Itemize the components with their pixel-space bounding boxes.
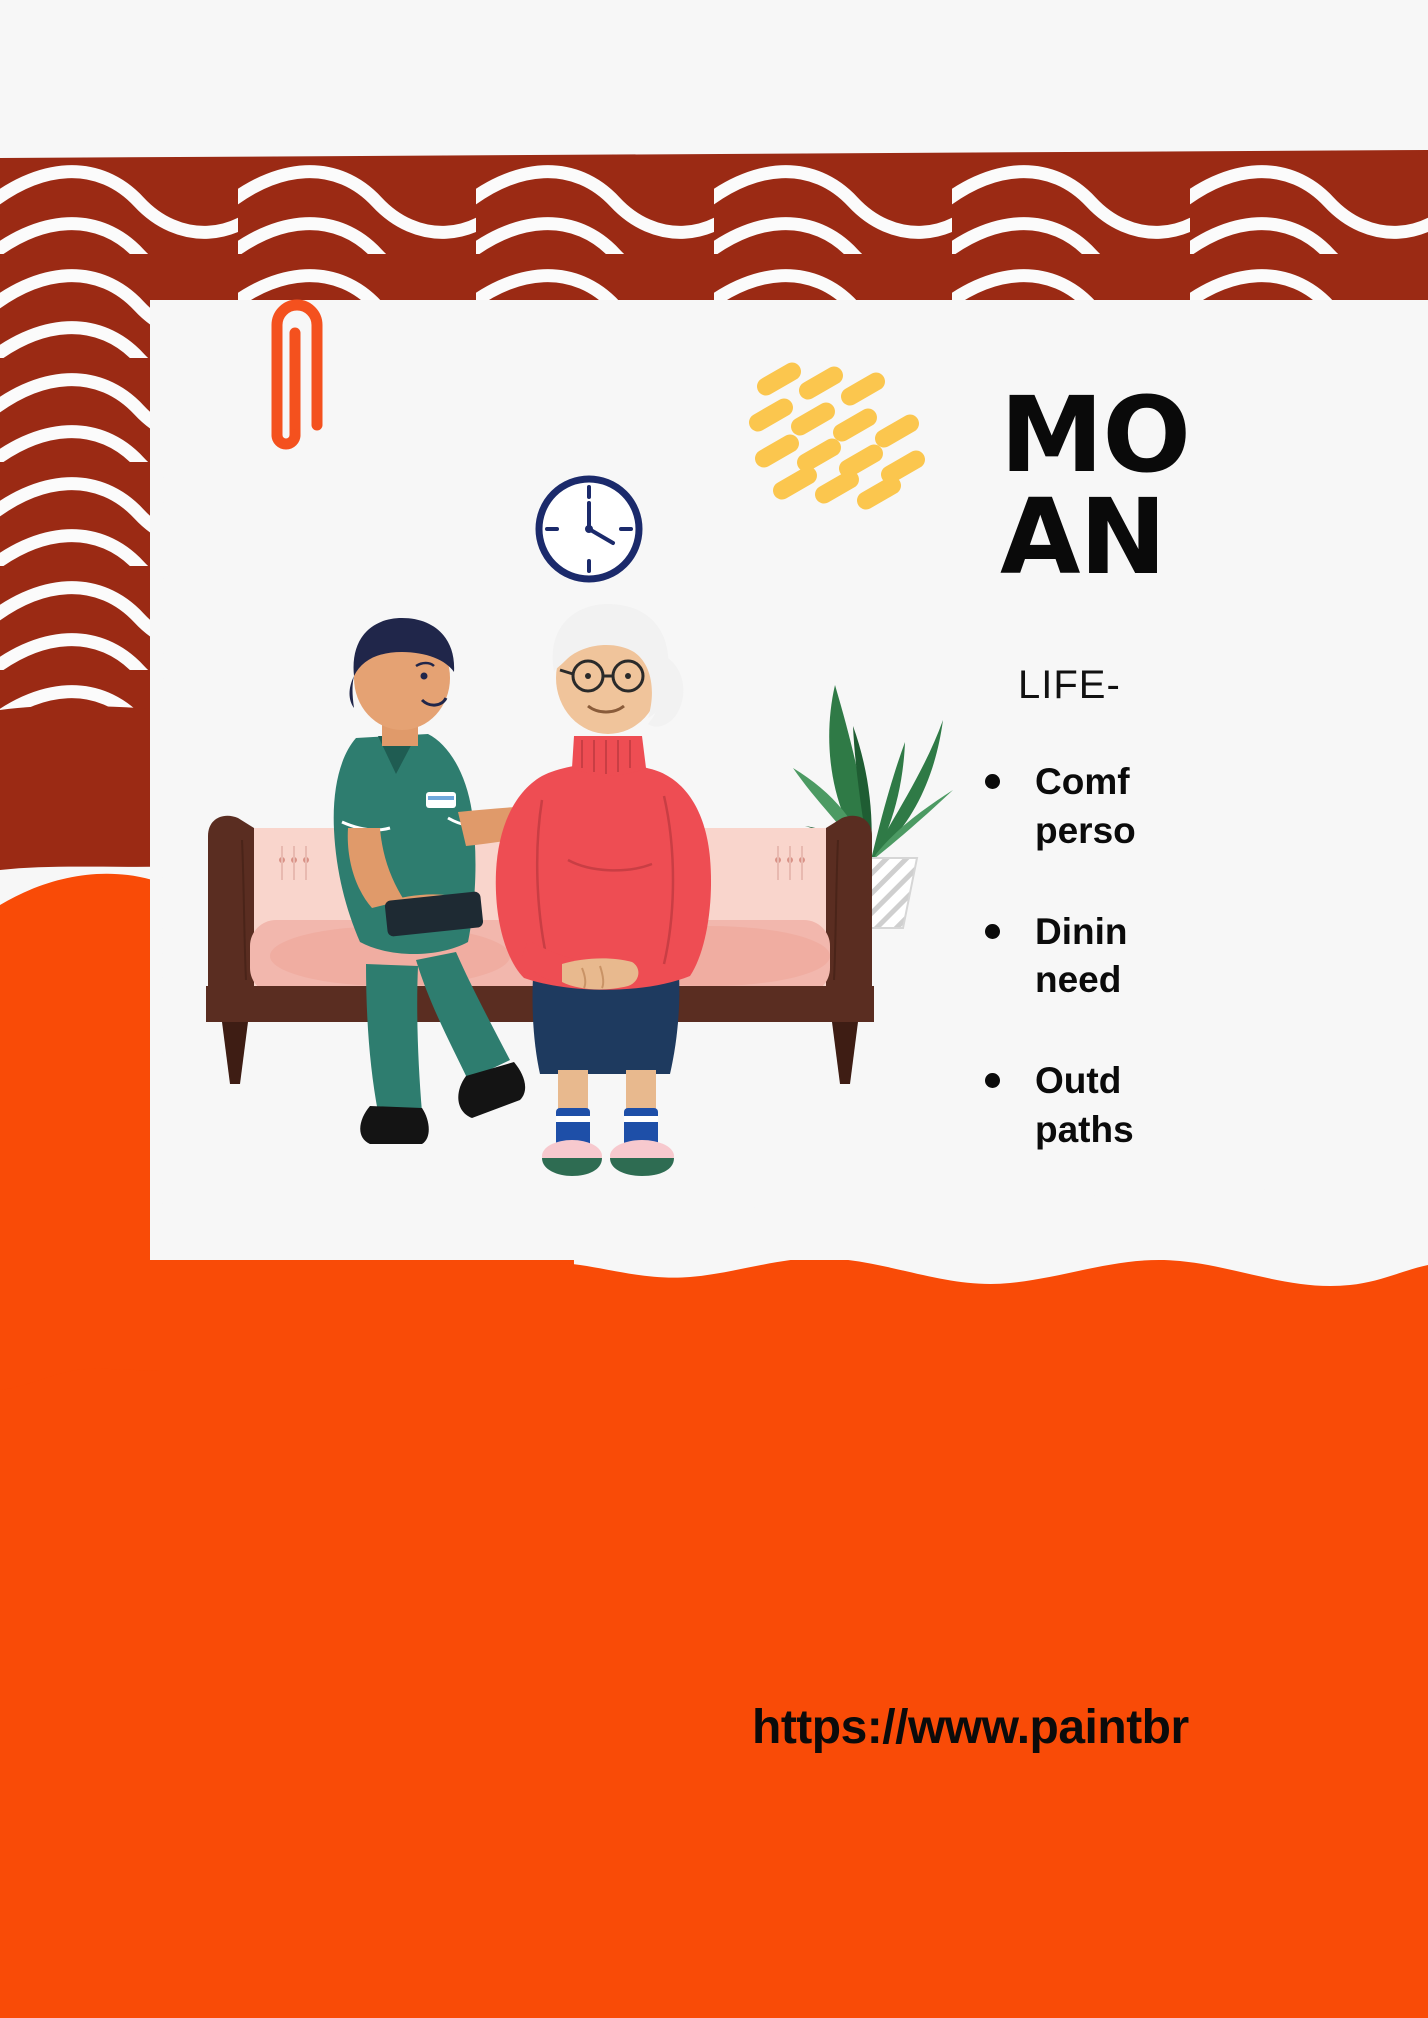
- list-item-line-2: perso: [1035, 807, 1428, 856]
- title-line-2: AN: [1000, 487, 1428, 589]
- list-item-line-2: paths: [1035, 1106, 1428, 1155]
- list-item: Dinin need: [985, 908, 1428, 1006]
- list-item-line-1: Dinin: [1035, 911, 1127, 952]
- paperclip-icon: [262, 285, 332, 455]
- bullet-dot-icon: [985, 774, 1000, 789]
- caregiver-and-elderly-illustration: [190, 560, 890, 1180]
- list-item-line-1: Comf: [1035, 761, 1130, 802]
- bullet-dot-icon: [985, 924, 1000, 939]
- list-item-line-1: Outd: [1035, 1060, 1121, 1101]
- poster-canvas: MO AN LIFE- Comf perso Dinin need Outd p…: [0, 0, 1428, 2018]
- list-item: Comf perso: [985, 758, 1428, 856]
- page-subtitle: LIFE-: [1018, 663, 1121, 708]
- list-item: Outd paths: [985, 1057, 1428, 1155]
- yellow-dash-pattern-icon: [745, 360, 945, 520]
- bullet-dot-icon: [985, 1073, 1000, 1088]
- feature-list: Comf perso Dinin need Outd paths: [985, 758, 1428, 1207]
- title-line-1: MO: [1000, 385, 1428, 487]
- top-white-strip: [0, 0, 1428, 160]
- list-item-line-2: need: [1035, 956, 1428, 1005]
- website-url[interactable]: https://www.paintbr: [752, 1700, 1189, 1755]
- page-title: MO AN: [1000, 385, 1428, 589]
